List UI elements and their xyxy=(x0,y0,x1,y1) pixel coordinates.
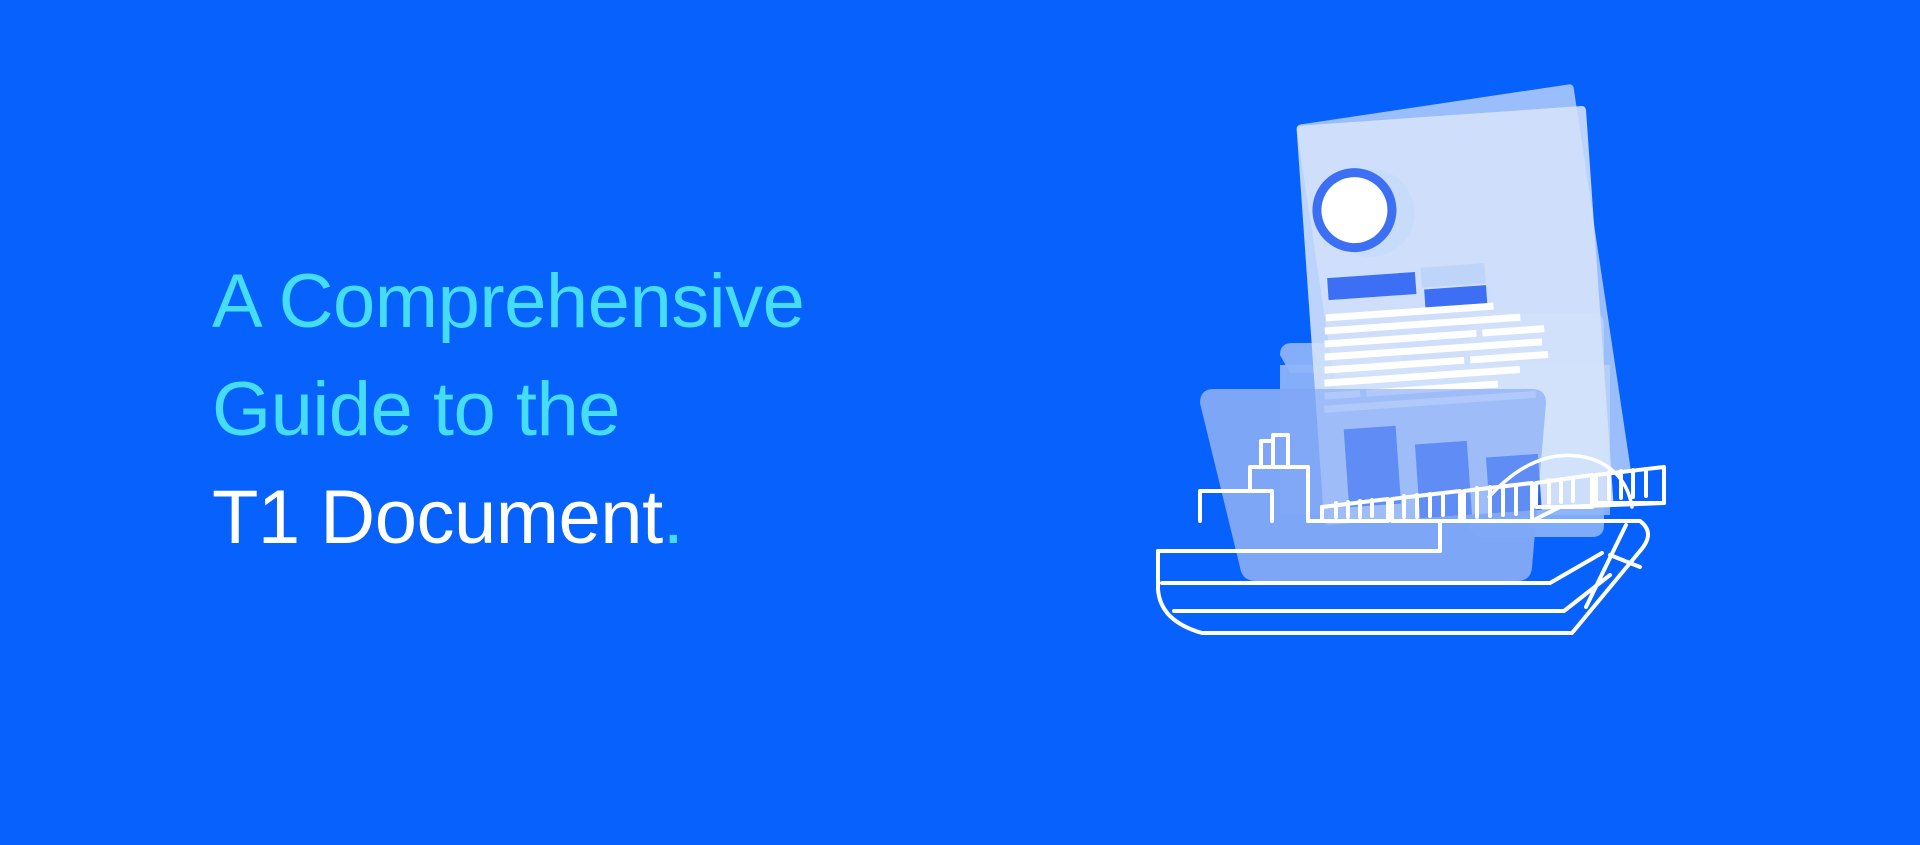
hero-banner: A Comprehensive Guide to the T1 Document… xyxy=(0,0,1920,845)
page-title: A Comprehensive Guide to the T1 Document… xyxy=(212,248,1052,572)
headline-line-2: Guide to the xyxy=(212,356,1052,464)
headline-line-3-text: T1 Document xyxy=(212,475,663,560)
headline-line-3: T1 Document. xyxy=(212,464,1052,572)
headline-line-1: A Comprehensive xyxy=(212,248,1052,356)
hero-illustration xyxy=(1140,55,1780,715)
headline-period: . xyxy=(663,475,684,560)
